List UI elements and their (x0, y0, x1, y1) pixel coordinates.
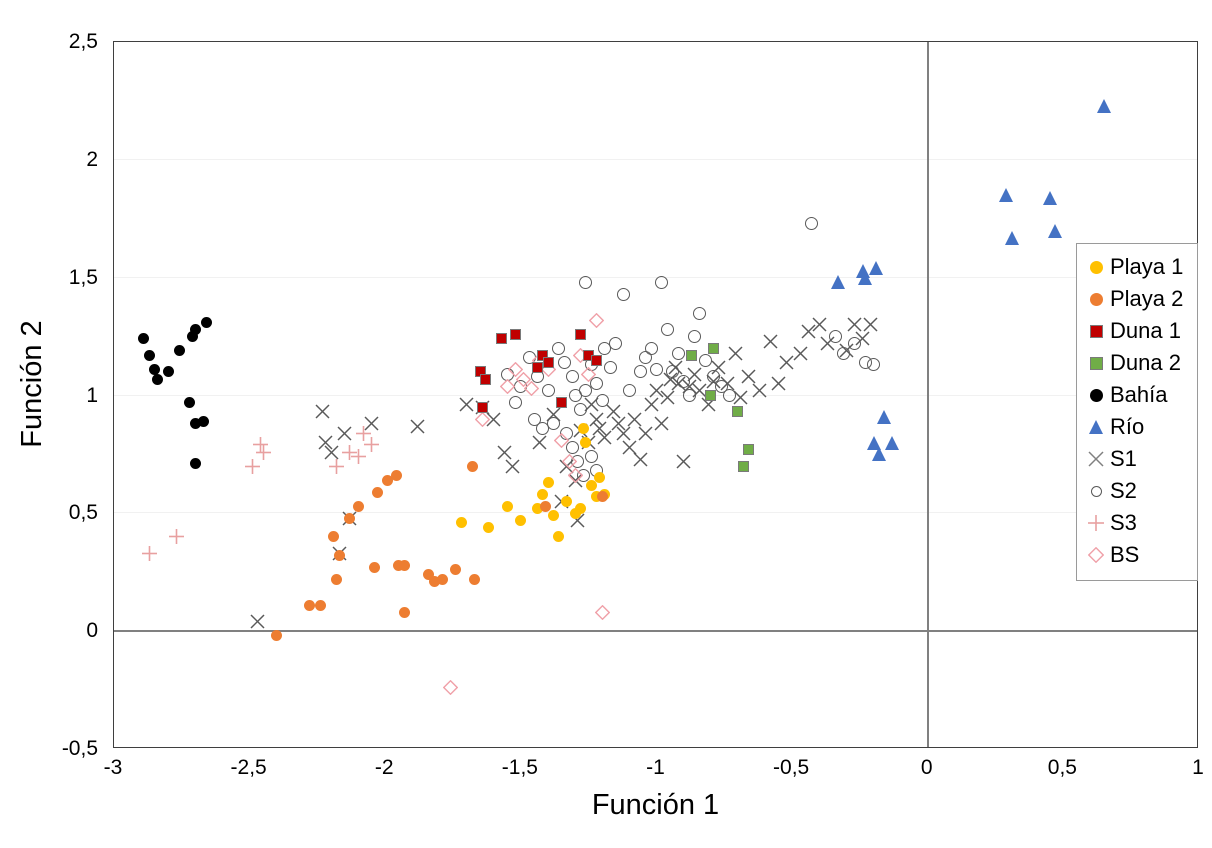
marker-filled-triangle (856, 264, 870, 278)
marker-filled-square (708, 343, 719, 354)
marker-x (763, 334, 778, 349)
legend-marker (1085, 544, 1107, 566)
marker-x (752, 383, 767, 398)
y-tick-label: 2,5 (8, 31, 98, 52)
gridline-horizontal (114, 159, 1197, 160)
marker-open-circle (666, 365, 679, 378)
marker-x (671, 376, 686, 391)
marker-filled-circle (1090, 261, 1103, 274)
marker-filled-circle (594, 472, 605, 483)
marker-plus (351, 449, 366, 464)
marker-filled-triangle (877, 410, 891, 424)
marker-filled-circle (543, 477, 554, 488)
legend-item-playa-1[interactable]: Playa 1 (1077, 251, 1197, 283)
marker-filled-triangle (999, 188, 1013, 202)
legend-marker (1085, 512, 1107, 534)
marker-open-circle (531, 370, 544, 383)
legend-item-bs[interactable]: BS (1077, 539, 1197, 571)
marker-open-circle (585, 450, 598, 463)
marker-x (660, 390, 675, 405)
marker-x (486, 412, 501, 427)
marker-filled-square (496, 333, 507, 344)
marker-filled-circle (483, 522, 494, 533)
marker-open-circle (699, 354, 712, 367)
marker-open-circle (688, 330, 701, 343)
marker-x (611, 416, 626, 431)
marker-open-circle (848, 337, 861, 350)
marker-open-diamond (562, 454, 577, 469)
marker-x (315, 404, 330, 419)
marker-open-circle (677, 375, 690, 388)
marker-filled-square (532, 362, 543, 373)
gridline-horizontal (114, 277, 1197, 278)
marker-x (568, 473, 583, 488)
marker-open-circle (645, 342, 658, 355)
marker-x (324, 445, 339, 460)
legend-marker (1085, 448, 1107, 470)
legend-label: Duna 1 (1110, 320, 1181, 342)
legend-item-s1[interactable]: S1 (1077, 443, 1197, 475)
marker-x (573, 423, 588, 438)
marker-open-circle (577, 469, 590, 482)
marker-filled-triangle (885, 436, 899, 450)
legend-label: Río (1110, 416, 1144, 438)
legend-label: Playa 2 (1110, 288, 1183, 310)
marker-open-circle (552, 342, 565, 355)
marker-filled-circle (1090, 293, 1103, 306)
marker-plus (356, 426, 371, 441)
marker-filled-triangle (872, 447, 886, 461)
marker-x (644, 397, 659, 412)
marker-open-circle (566, 370, 579, 383)
plot-area (113, 41, 1198, 748)
marker-filled-square (1090, 325, 1103, 338)
marker-x (793, 346, 808, 361)
x-axis-title: Función 1 (113, 789, 1198, 821)
marker-x (554, 494, 569, 509)
marker-x (692, 383, 707, 398)
marker-filled-square (543, 357, 554, 368)
marker-plus (253, 437, 268, 452)
x-tick-label: -3 (73, 757, 153, 778)
marker-x (532, 435, 547, 450)
marker-filled-circle (328, 531, 339, 542)
marker-filled-circle (149, 364, 160, 375)
y-tick-label: 0,5 (8, 502, 98, 523)
marker-x (649, 383, 664, 398)
legend-item-playa-2[interactable]: Playa 2 (1077, 283, 1197, 315)
legend-item-río[interactable]: Río (1077, 411, 1197, 443)
marker-x (584, 397, 599, 412)
marker-open-circle (574, 403, 587, 416)
x-tick-label: -0,5 (751, 757, 831, 778)
legend-marker (1085, 480, 1107, 502)
x-tick-label: -2,5 (209, 757, 289, 778)
marker-open-diamond (573, 348, 588, 363)
y-tick-label: -0,5 (8, 738, 98, 759)
marker-open-diamond (532, 353, 547, 368)
marker-filled-triangle (1089, 420, 1103, 434)
marker-filled-square (743, 444, 754, 455)
marker-open-circle (715, 380, 728, 393)
marker-x (459, 397, 474, 412)
marker-open-circle (604, 361, 617, 374)
marker-filled-circle (138, 333, 149, 344)
marker-plus (329, 459, 344, 474)
marker-plus (142, 546, 157, 561)
marker-open-circle (571, 455, 584, 468)
marker-x (855, 331, 870, 346)
marker-x (733, 390, 748, 405)
marker-filled-circle (190, 324, 201, 335)
y-tick-label: 2 (8, 149, 98, 170)
marker-filled-square (510, 329, 521, 340)
marker-filled-circle (393, 560, 404, 571)
marker-x (812, 317, 827, 332)
marker-x (250, 614, 265, 629)
marker-x (720, 376, 735, 391)
marker-filled-square (686, 350, 697, 361)
marker-x (497, 445, 512, 460)
marker-x (711, 360, 726, 375)
marker-open-circle (547, 417, 560, 430)
marker-x (505, 459, 520, 474)
marker-open-circle (723, 389, 736, 402)
marker-open-diamond (508, 362, 523, 377)
legend-item-duna-1[interactable]: Duna 1 (1077, 315, 1197, 347)
marker-filled-circle (144, 350, 155, 361)
marker-open-diamond (568, 468, 583, 483)
marker-x (687, 367, 702, 382)
marker-open-circle (560, 427, 573, 440)
legend-label: BS (1110, 544, 1139, 566)
marker-filled-circle (429, 576, 440, 587)
marker-filled-circle (391, 470, 402, 481)
marker-filled-circle (553, 531, 564, 542)
legend-marker (1085, 352, 1107, 374)
legend-marker (1085, 256, 1107, 278)
legend-item-bahía[interactable]: Bahía (1077, 379, 1197, 411)
marker-open-circle (609, 337, 622, 350)
y-tick-label: 1,5 (8, 267, 98, 288)
legend-item-s3[interactable]: S3 (1077, 507, 1197, 539)
marker-open-circle (598, 342, 611, 355)
marker-x (779, 355, 794, 370)
marker-x (332, 546, 347, 561)
legend-item-s2[interactable]: S2 (1077, 475, 1197, 507)
marker-x (706, 374, 721, 389)
x-tick-label: -1 (616, 757, 696, 778)
marker-filled-square (1090, 357, 1103, 370)
marker-filled-circle (423, 569, 434, 580)
marker-x (546, 407, 561, 422)
marker-filled-circle (580, 437, 591, 448)
scatter-plot-figure: Función 2 -0,500,511,522,5 -3-2,5-2-1,5-… (0, 0, 1212, 848)
legend-marker (1085, 320, 1107, 342)
marker-filled-circle (502, 501, 513, 512)
marker-x (801, 324, 816, 339)
marker-filled-circle (353, 501, 364, 512)
marker-open-circle (805, 217, 818, 230)
marker-open-diamond (541, 362, 556, 377)
legend-label: S2 (1110, 480, 1137, 502)
marker-open-diamond (516, 372, 531, 387)
marker-filled-triangle (1043, 191, 1057, 205)
marker-x (663, 372, 678, 387)
marker-x (654, 416, 669, 431)
marker-open-circle (569, 389, 582, 402)
marker-plus (342, 445, 357, 460)
marker-x (863, 317, 878, 332)
marker-x (633, 452, 648, 467)
marker-open-circle (579, 276, 592, 289)
marker-x (839, 343, 854, 358)
marker-filled-circle (201, 317, 212, 328)
legend-label: Duna 2 (1110, 352, 1181, 374)
x-tick-label: 1 (1158, 757, 1212, 778)
marker-plus (1088, 515, 1104, 531)
marker-open-circle (859, 356, 872, 369)
marker-open-circle (655, 276, 668, 289)
marker-filled-circle (184, 397, 195, 408)
marker-x (676, 454, 691, 469)
x-tick-label: 0 (887, 757, 967, 778)
marker-filled-circle (174, 345, 185, 356)
marker-x (771, 376, 786, 391)
marker-filled-triangle (1005, 231, 1019, 245)
marker-filled-circle (515, 515, 526, 526)
marker-x (589, 412, 604, 427)
marker-open-circle (514, 380, 527, 393)
marker-open-diamond (554, 433, 569, 448)
marker-x (668, 360, 683, 375)
y-tick-label: 0 (8, 620, 98, 641)
marker-filled-circle (540, 501, 551, 512)
zero-line-horizontal (114, 630, 1197, 632)
marker-filled-triangle (869, 261, 883, 275)
legend-label: S1 (1110, 448, 1137, 470)
marker-filled-circle (578, 423, 589, 434)
marker-filled-square (705, 390, 716, 401)
marker-filled-circle (152, 374, 163, 385)
marker-open-circle (536, 422, 549, 435)
marker-x (701, 397, 716, 412)
marker-plus (169, 529, 184, 544)
marker-filled-circle (190, 418, 201, 429)
legend: Playa 1Playa 2Duna 1Duna 2BahíaRíoS1S2S3… (1076, 243, 1198, 581)
x-tick-label: 0,5 (1022, 757, 1102, 778)
marker-filled-square (591, 355, 602, 366)
marker-filled-circle (469, 574, 480, 585)
marker-filled-circle (586, 480, 597, 491)
legend-label: Bahía (1110, 384, 1168, 406)
marker-open-circle (661, 323, 674, 336)
marker-x (364, 416, 379, 431)
marker-x (606, 404, 621, 419)
marker-open-circle (523, 351, 536, 364)
marker-filled-circle (382, 475, 393, 486)
marker-x (559, 459, 574, 474)
marker-x (820, 336, 835, 351)
marker-filled-triangle (1048, 224, 1062, 238)
marker-filled-circle (467, 461, 478, 472)
marker-open-circle (501, 368, 514, 381)
marker-filled-circle (315, 600, 326, 611)
marker-filled-circle (331, 574, 342, 585)
marker-filled-triangle (858, 271, 872, 285)
marker-open-circle (683, 389, 696, 402)
marker-filled-square (575, 329, 586, 340)
marker-x (410, 419, 425, 434)
marker-plus (256, 445, 271, 460)
marker-filled-circle (369, 562, 380, 573)
marker-open-circle (829, 330, 842, 343)
marker-open-circle (590, 464, 603, 477)
marker-filled-square (732, 406, 743, 417)
gridline-horizontal (114, 512, 1197, 513)
marker-filled-triangle (867, 436, 881, 450)
legend-item-duna-2[interactable]: Duna 2 (1077, 347, 1197, 379)
marker-open-circle (672, 347, 685, 360)
marker-open-circle (566, 441, 579, 454)
marker-open-diamond (1088, 547, 1104, 563)
marker-x (337, 426, 352, 441)
marker-x (728, 346, 743, 361)
gridline-horizontal (114, 395, 1197, 396)
marker-open-diamond (595, 605, 610, 620)
marker-filled-square (477, 402, 488, 413)
marker-open-circle (867, 358, 880, 371)
marker-filled-circle (344, 513, 355, 524)
marker-filled-circle (570, 508, 581, 519)
marker-x (1088, 451, 1104, 467)
marker-open-circle (639, 351, 652, 364)
marker-filled-circle (450, 564, 461, 575)
marker-open-circle (837, 347, 850, 360)
marker-filled-circle (304, 600, 315, 611)
marker-x (741, 369, 756, 384)
marker-open-diamond (475, 412, 490, 427)
marker-x (581, 435, 596, 450)
marker-open-circle (596, 394, 609, 407)
marker-filled-circle (537, 489, 548, 500)
marker-filled-circle (456, 517, 467, 528)
marker-open-circle (528, 413, 541, 426)
marker-filled-square (475, 366, 486, 377)
marker-filled-circle (591, 491, 602, 502)
marker-filled-circle (599, 489, 610, 500)
marker-open-diamond (443, 680, 458, 695)
x-tick-label: -2 (344, 757, 424, 778)
marker-open-circle (617, 288, 630, 301)
marker-filled-circle (190, 458, 201, 469)
marker-open-circle (1091, 486, 1102, 497)
marker-plus (364, 437, 379, 452)
marker-open-diamond (589, 313, 604, 328)
marker-filled-square (537, 350, 548, 361)
marker-x (475, 400, 490, 415)
marker-filled-square (738, 461, 749, 472)
marker-filled-triangle (1097, 99, 1111, 113)
marker-filled-square (583, 350, 594, 361)
marker-x (592, 421, 607, 436)
marker-open-circle (650, 363, 663, 376)
legend-marker (1085, 416, 1107, 438)
marker-open-diamond (500, 379, 515, 394)
marker-filled-circle (399, 607, 410, 618)
marker-filled-circle (561, 496, 572, 507)
marker-open-diamond (581, 367, 596, 382)
marker-filled-circle (399, 560, 410, 571)
marker-x (597, 430, 612, 445)
y-tick-label: 1 (8, 385, 98, 406)
marker-filled-circle (163, 366, 174, 377)
legend-label: S3 (1110, 512, 1137, 534)
marker-filled-circle (372, 487, 383, 498)
zero-line-vertical (927, 42, 929, 747)
marker-open-circle (707, 370, 720, 383)
marker-filled-circle (1090, 389, 1103, 402)
x-tick-label: -1,5 (480, 757, 560, 778)
marker-open-circle (585, 358, 598, 371)
legend-marker (1085, 384, 1107, 406)
marker-x (318, 435, 333, 450)
marker-filled-square (556, 397, 567, 408)
marker-filled-circle (437, 574, 448, 585)
marker-x (570, 513, 585, 528)
marker-x (682, 379, 697, 394)
marker-filled-circle (597, 491, 608, 502)
marker-filled-square (480, 374, 491, 385)
marker-filled-circle (187, 331, 198, 342)
legend-marker (1085, 288, 1107, 310)
marker-plus (245, 459, 260, 474)
marker-open-circle (590, 377, 603, 390)
marker-filled-circle (198, 416, 209, 427)
legend-label: Playa 1 (1110, 256, 1183, 278)
marker-filled-circle (334, 550, 345, 561)
marker-open-circle (634, 365, 647, 378)
marker-x (616, 426, 631, 441)
marker-x (622, 440, 637, 455)
marker-x (847, 317, 862, 332)
marker-x (627, 412, 642, 427)
marker-open-circle (693, 307, 706, 320)
marker-open-circle (558, 356, 571, 369)
marker-x (638, 426, 653, 441)
marker-open-circle (509, 396, 522, 409)
